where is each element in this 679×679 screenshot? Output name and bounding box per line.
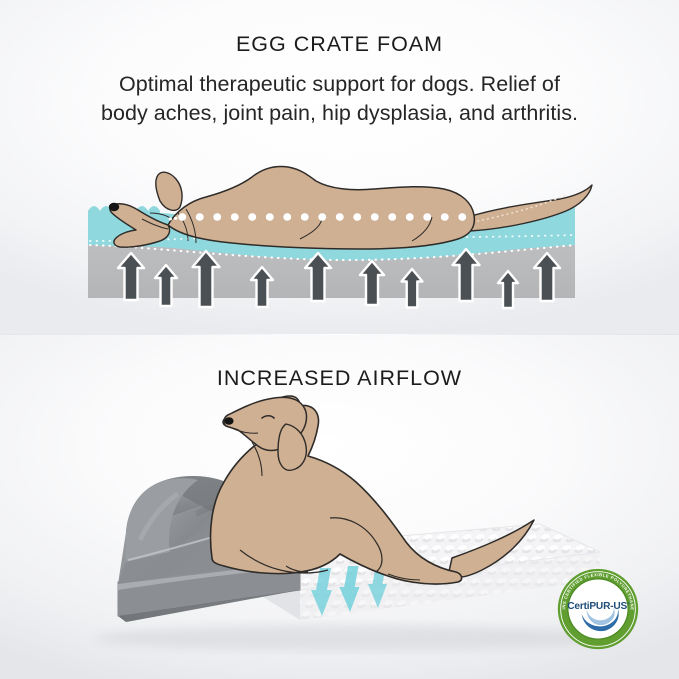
panel-egg-crate-foam: EGG CRATE FOAM Optimal therapeutic suppo… — [0, 0, 679, 334]
dog-nose-2 — [224, 417, 233, 425]
infographic-root: EGG CRATE FOAM Optimal therapeutic suppo… — [0, 0, 679, 679]
certipur-us-badge: CONTAINS CERTIFIED FLEXIBLE POLYURETHANE… — [557, 568, 639, 650]
subtitle-line-2: body aches, joint pain, hip dysplasia, a… — [34, 99, 645, 128]
dog-illustration-resting — [211, 396, 535, 584]
subtitle-line-1: Optimal therapeutic support for dogs. Re… — [34, 70, 645, 99]
illustration-foam-cross-section — [0, 155, 679, 325]
page-title-increased-airflow: INCREASED AIRFLOW — [0, 366, 679, 391]
dog-nose — [109, 203, 119, 211]
badge-trademark-symbol: ® — [628, 602, 631, 606]
ground-shadow — [95, 625, 605, 651]
spine-alignment-dots — [170, 217, 470, 219]
badge-brand-text: CertiPUR-US — [567, 601, 627, 612]
subtitle-description: Optimal therapeutic support for dogs. Re… — [34, 70, 645, 128]
page-title-egg-crate-foam: EGG CRATE FOAM — [0, 32, 679, 57]
